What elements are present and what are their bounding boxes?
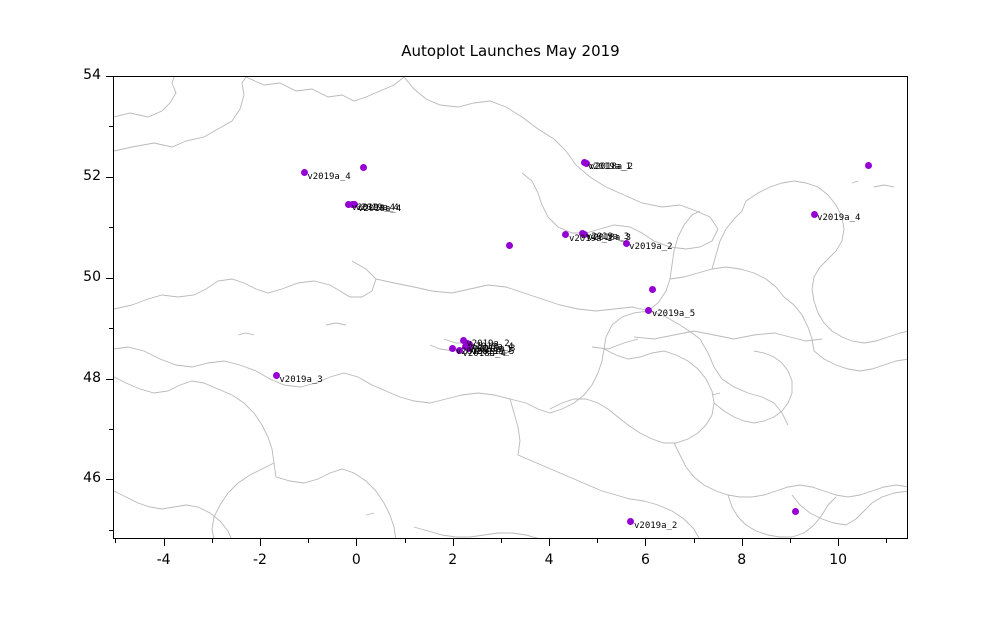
y-axis-minor-tick: [109, 328, 113, 329]
x-axis-tick: [645, 539, 646, 546]
x-axis-minor-tick: [115, 539, 116, 543]
x-axis-tick-label: -4: [134, 552, 194, 568]
x-axis-tick-label: -2: [230, 552, 290, 568]
data-point-label: v2019a_2: [634, 522, 677, 531]
y-axis-tick: [106, 379, 113, 380]
x-axis-tick: [260, 539, 261, 546]
x-axis-minor-tick: [405, 539, 406, 543]
data-point-label: v2018a_4: [358, 205, 401, 214]
x-axis-minor-tick: [501, 539, 502, 543]
y-axis-minor-tick: [109, 429, 113, 430]
data-point-label: v2019a_4: [307, 173, 350, 182]
x-axis-tick: [453, 539, 454, 546]
x-axis-tick-label: 4: [519, 552, 579, 568]
scatter-plot-axes[interactable]: v2019a_4v2019a_4v2019a_4v2018a_4v2019a_3…: [113, 76, 908, 539]
y-axis-tick-label: 50: [51, 269, 101, 285]
x-axis-tick-label: 10: [808, 552, 868, 568]
y-axis-tick-label: 54: [51, 67, 101, 83]
y-axis-tick-label: 46: [51, 470, 101, 486]
y-axis-tick-label: 48: [51, 370, 101, 386]
data-point-label: v2018a_2: [590, 163, 633, 172]
y-axis-minor-tick: [109, 530, 113, 531]
x-axis-minor-tick: [790, 539, 791, 543]
x-axis-tick: [838, 539, 839, 546]
x-axis-tick: [356, 539, 357, 546]
y-axis-tick: [106, 177, 113, 178]
x-axis-minor-tick: [597, 539, 598, 543]
x-axis-tick: [549, 539, 550, 546]
x-axis-tick-label: 2: [423, 552, 483, 568]
data-point-label: v2019a_3: [279, 376, 322, 385]
y-axis-minor-tick: [109, 227, 113, 228]
page-title: Autoplot Launches May 2019: [113, 42, 908, 60]
y-axis-tick: [106, 76, 113, 77]
y-axis-tick: [106, 278, 113, 279]
x-axis-minor-tick: [694, 539, 695, 543]
data-point-label: v2018a_4: [462, 350, 505, 359]
x-axis-tick-label: 6: [615, 552, 675, 568]
data-point-label: v2019a_4: [817, 214, 860, 223]
x-axis-minor-tick: [308, 539, 309, 543]
x-axis-tick-label: 8: [712, 552, 772, 568]
y-axis-tick: [106, 479, 113, 480]
x-axis-tick: [742, 539, 743, 546]
x-axis-minor-tick: [212, 539, 213, 543]
data-point-label: v2018a_3: [588, 234, 631, 243]
x-axis-minor-tick: [886, 539, 887, 543]
matplotlib-figure: Autoplot Launches May 2019: [0, 0, 1003, 633]
y-axis-tick-label: 52: [51, 168, 101, 184]
data-labels-layer: v2019a_4v2019a_4v2019a_4v2018a_4v2019a_3…: [114, 77, 908, 539]
y-axis-minor-tick: [109, 126, 113, 127]
data-point-label: v2019a_5: [652, 310, 695, 319]
data-point-label: v2019a_2: [629, 243, 672, 252]
x-axis-tick-label: 0: [326, 552, 386, 568]
x-axis-tick: [164, 539, 165, 546]
